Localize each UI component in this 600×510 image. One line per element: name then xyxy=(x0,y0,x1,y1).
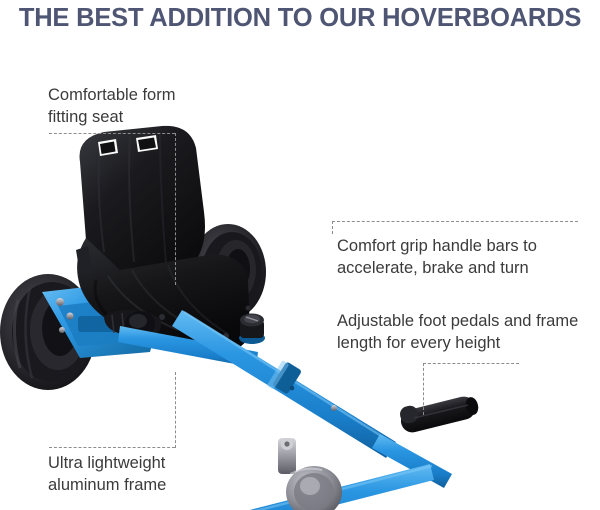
callout-ultra-lightweight-frame: Ultra lightweight aluminum frame xyxy=(48,452,268,496)
hoverboard-chassis xyxy=(42,282,211,358)
callout-comfortable-seat: Comfortable form fitting seat xyxy=(48,84,268,128)
front-caster-wheel xyxy=(278,438,342,510)
adjustment-knob xyxy=(239,314,265,345)
leader-line-frame-horizontal xyxy=(49,447,175,448)
product-feature-graphic: THE BEST ADDITION TO OUR HOVERBOARDS xyxy=(0,0,600,510)
leader-line-handle-vertical xyxy=(332,221,333,234)
hoverboard-wheel-right xyxy=(190,224,266,320)
page-title: THE BEST ADDITION TO OUR HOVERBOARDS xyxy=(0,4,600,33)
leader-line-pedals-horizontal xyxy=(423,363,519,364)
leader-line-seat-horizontal xyxy=(49,133,175,134)
leader-line-pedals-vertical xyxy=(423,363,424,415)
foot-pedal-right xyxy=(398,394,480,435)
callout-comfort-grip-handles: Comfort grip handle bars to accelerate, … xyxy=(337,235,587,279)
leader-line-frame-vertical xyxy=(175,372,176,448)
callout-adjustable-foot-pedals: Adjustable foot pedals and frame length … xyxy=(337,310,587,354)
leader-line-seat-vertical xyxy=(175,133,176,285)
leader-line-handle-horizontal xyxy=(332,221,578,222)
seat xyxy=(76,126,251,351)
hoverboard-wheel-left xyxy=(0,274,96,390)
